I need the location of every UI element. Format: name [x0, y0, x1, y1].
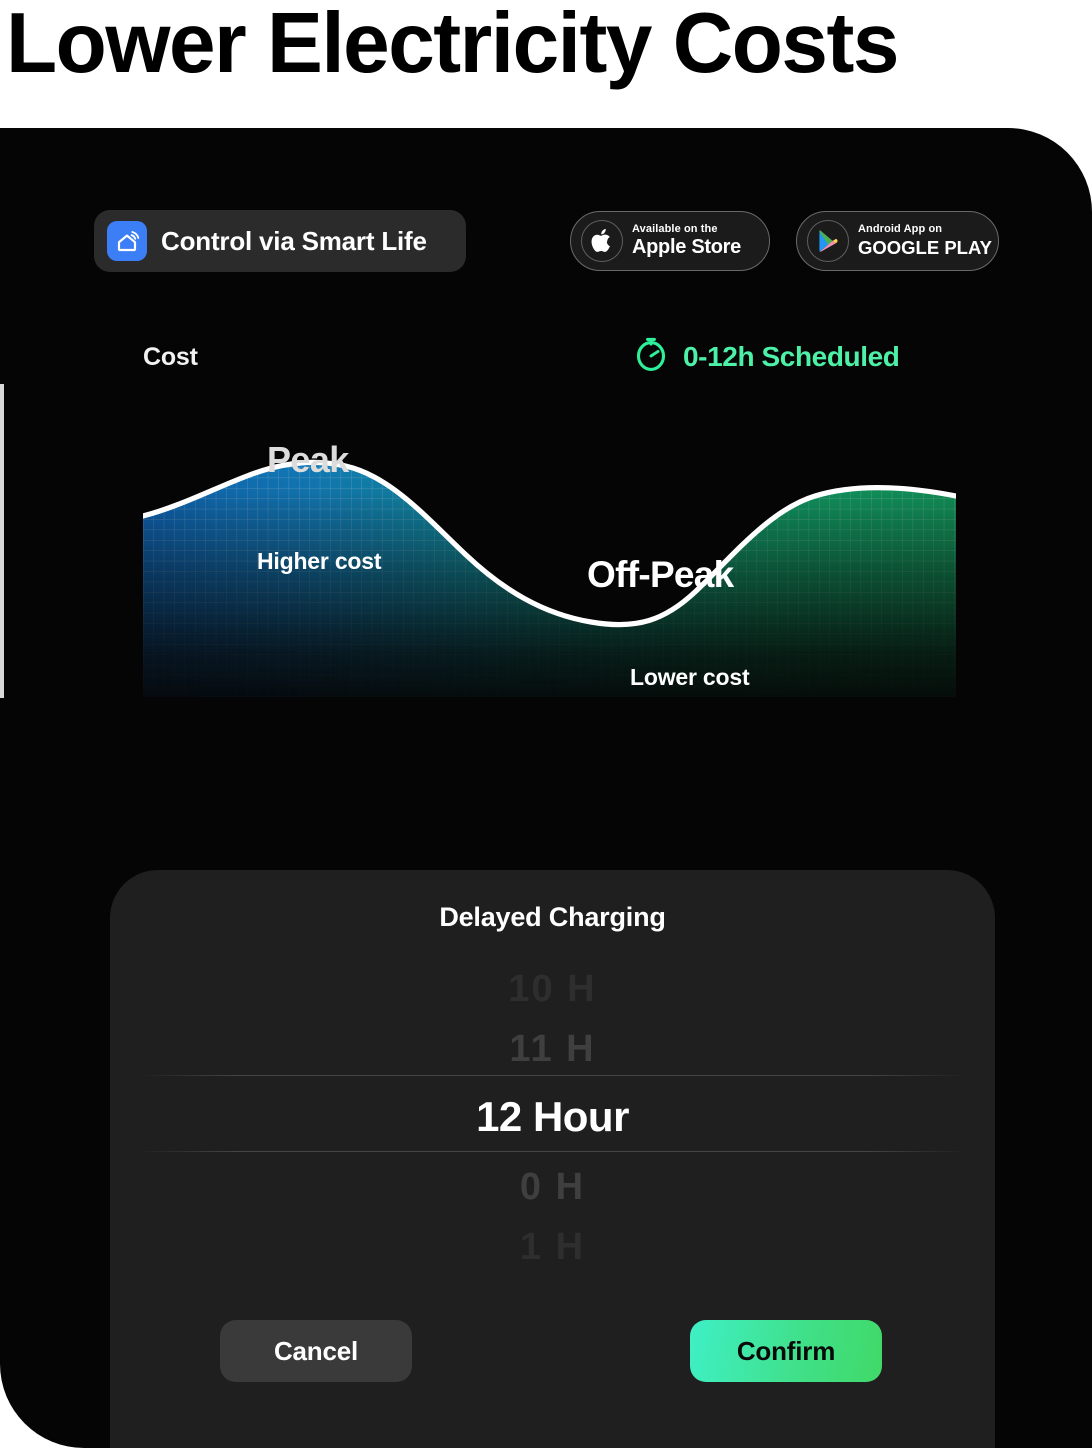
google-play-logo-icon: [807, 220, 849, 262]
picker-divider-top: [138, 1075, 967, 1076]
smart-life-label: Control via Smart Life: [161, 226, 427, 257]
apple-logo-icon: [581, 220, 623, 262]
google-play-top-line: Android App on: [858, 223, 992, 236]
delayed-charging-dialog: Delayed Charging 10 H 11 H 12 Hour 0 H 1…: [110, 870, 995, 1448]
chart-y-axis: [0, 384, 4, 698]
smart-home-wifi-icon: [107, 221, 147, 261]
apple-store-top-line: Available on the: [632, 223, 741, 236]
off-peak-label: Off-Peak: [587, 554, 734, 596]
picker-option[interactable]: 1 H: [110, 1226, 995, 1269]
cancel-button[interactable]: Cancel: [220, 1320, 412, 1382]
lower-cost-label: Lower cost: [630, 664, 749, 691]
picker-option[interactable]: 0 H: [110, 1166, 995, 1209]
peak-label: Peak: [267, 439, 349, 481]
dialog-button-row: Cancel Confirm: [110, 1320, 995, 1390]
apple-store-bottom-line: Apple Store: [632, 236, 741, 259]
google-play-bottom-line: GOOGLE PLAY: [858, 236, 992, 259]
screenshot-root: Lower Electricity Costs Control via Smar…: [0, 0, 1092, 1448]
cost-chart: Cost 0-12h Scheduled: [0, 343, 1092, 803]
page-title: Lower Electricity Costs: [6, 0, 1070, 94]
higher-cost-label: Higher cost: [257, 548, 381, 575]
device-panel: Control via Smart Life Available on the …: [0, 128, 1092, 1448]
badge-row: Control via Smart Life Available on the …: [94, 210, 999, 274]
smart-life-badge[interactable]: Control via Smart Life: [94, 210, 466, 272]
picker-option-selected[interactable]: 12 Hour: [110, 1093, 995, 1141]
hour-picker[interactable]: 10 H 11 H 12 Hour 0 H 1 H: [110, 968, 995, 1288]
chart-plot-area: [143, 384, 956, 697]
schedule-badge: 0-12h Scheduled: [632, 335, 900, 378]
confirm-button[interactable]: Confirm: [690, 1320, 882, 1382]
picker-option[interactable]: 11 H: [110, 1028, 995, 1071]
google-play-text: Android App on GOOGLE PLAY: [858, 223, 992, 259]
chart-area-curve: [143, 384, 956, 697]
picker-divider-bottom: [138, 1151, 967, 1152]
apple-store-text: Available on the Apple Store: [632, 223, 741, 259]
schedule-badge-label: 0-12h Scheduled: [683, 341, 900, 373]
chart-y-axis-label: Cost: [143, 343, 198, 372]
dialog-title: Delayed Charging: [110, 902, 995, 933]
picker-option[interactable]: 10 H: [110, 968, 995, 1011]
stopwatch-icon: [632, 335, 670, 378]
apple-store-badge[interactable]: Available on the Apple Store: [570, 211, 770, 271]
google-play-badge[interactable]: Android App on GOOGLE PLAY: [796, 211, 999, 271]
